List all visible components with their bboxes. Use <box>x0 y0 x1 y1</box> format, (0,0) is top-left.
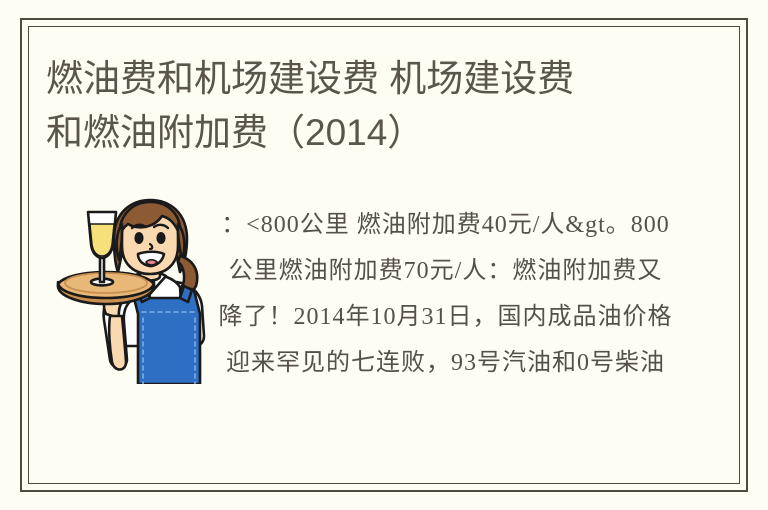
article-body-text: ：<800公里 燃油附加费40元/人&gt。800公里燃油附加费70元/人：燃油… <box>218 202 673 386</box>
article-body-section: ：<800公里 燃油附加费40元/人&gt。800公里燃油附加费70元/人：燃油… <box>28 186 740 476</box>
card-content: 燃油费和机场建设费 机场建设费 和燃油附加费（2014） <box>28 26 740 484</box>
article-title: 燃油费和机场建设费 机场建设费 和燃油附加费（2014） <box>46 52 722 160</box>
waitress-with-tray-icon <box>54 194 219 384</box>
article-card: 燃油费和机场建设费 机场建设费 和燃油附加费（2014） <box>0 0 768 510</box>
